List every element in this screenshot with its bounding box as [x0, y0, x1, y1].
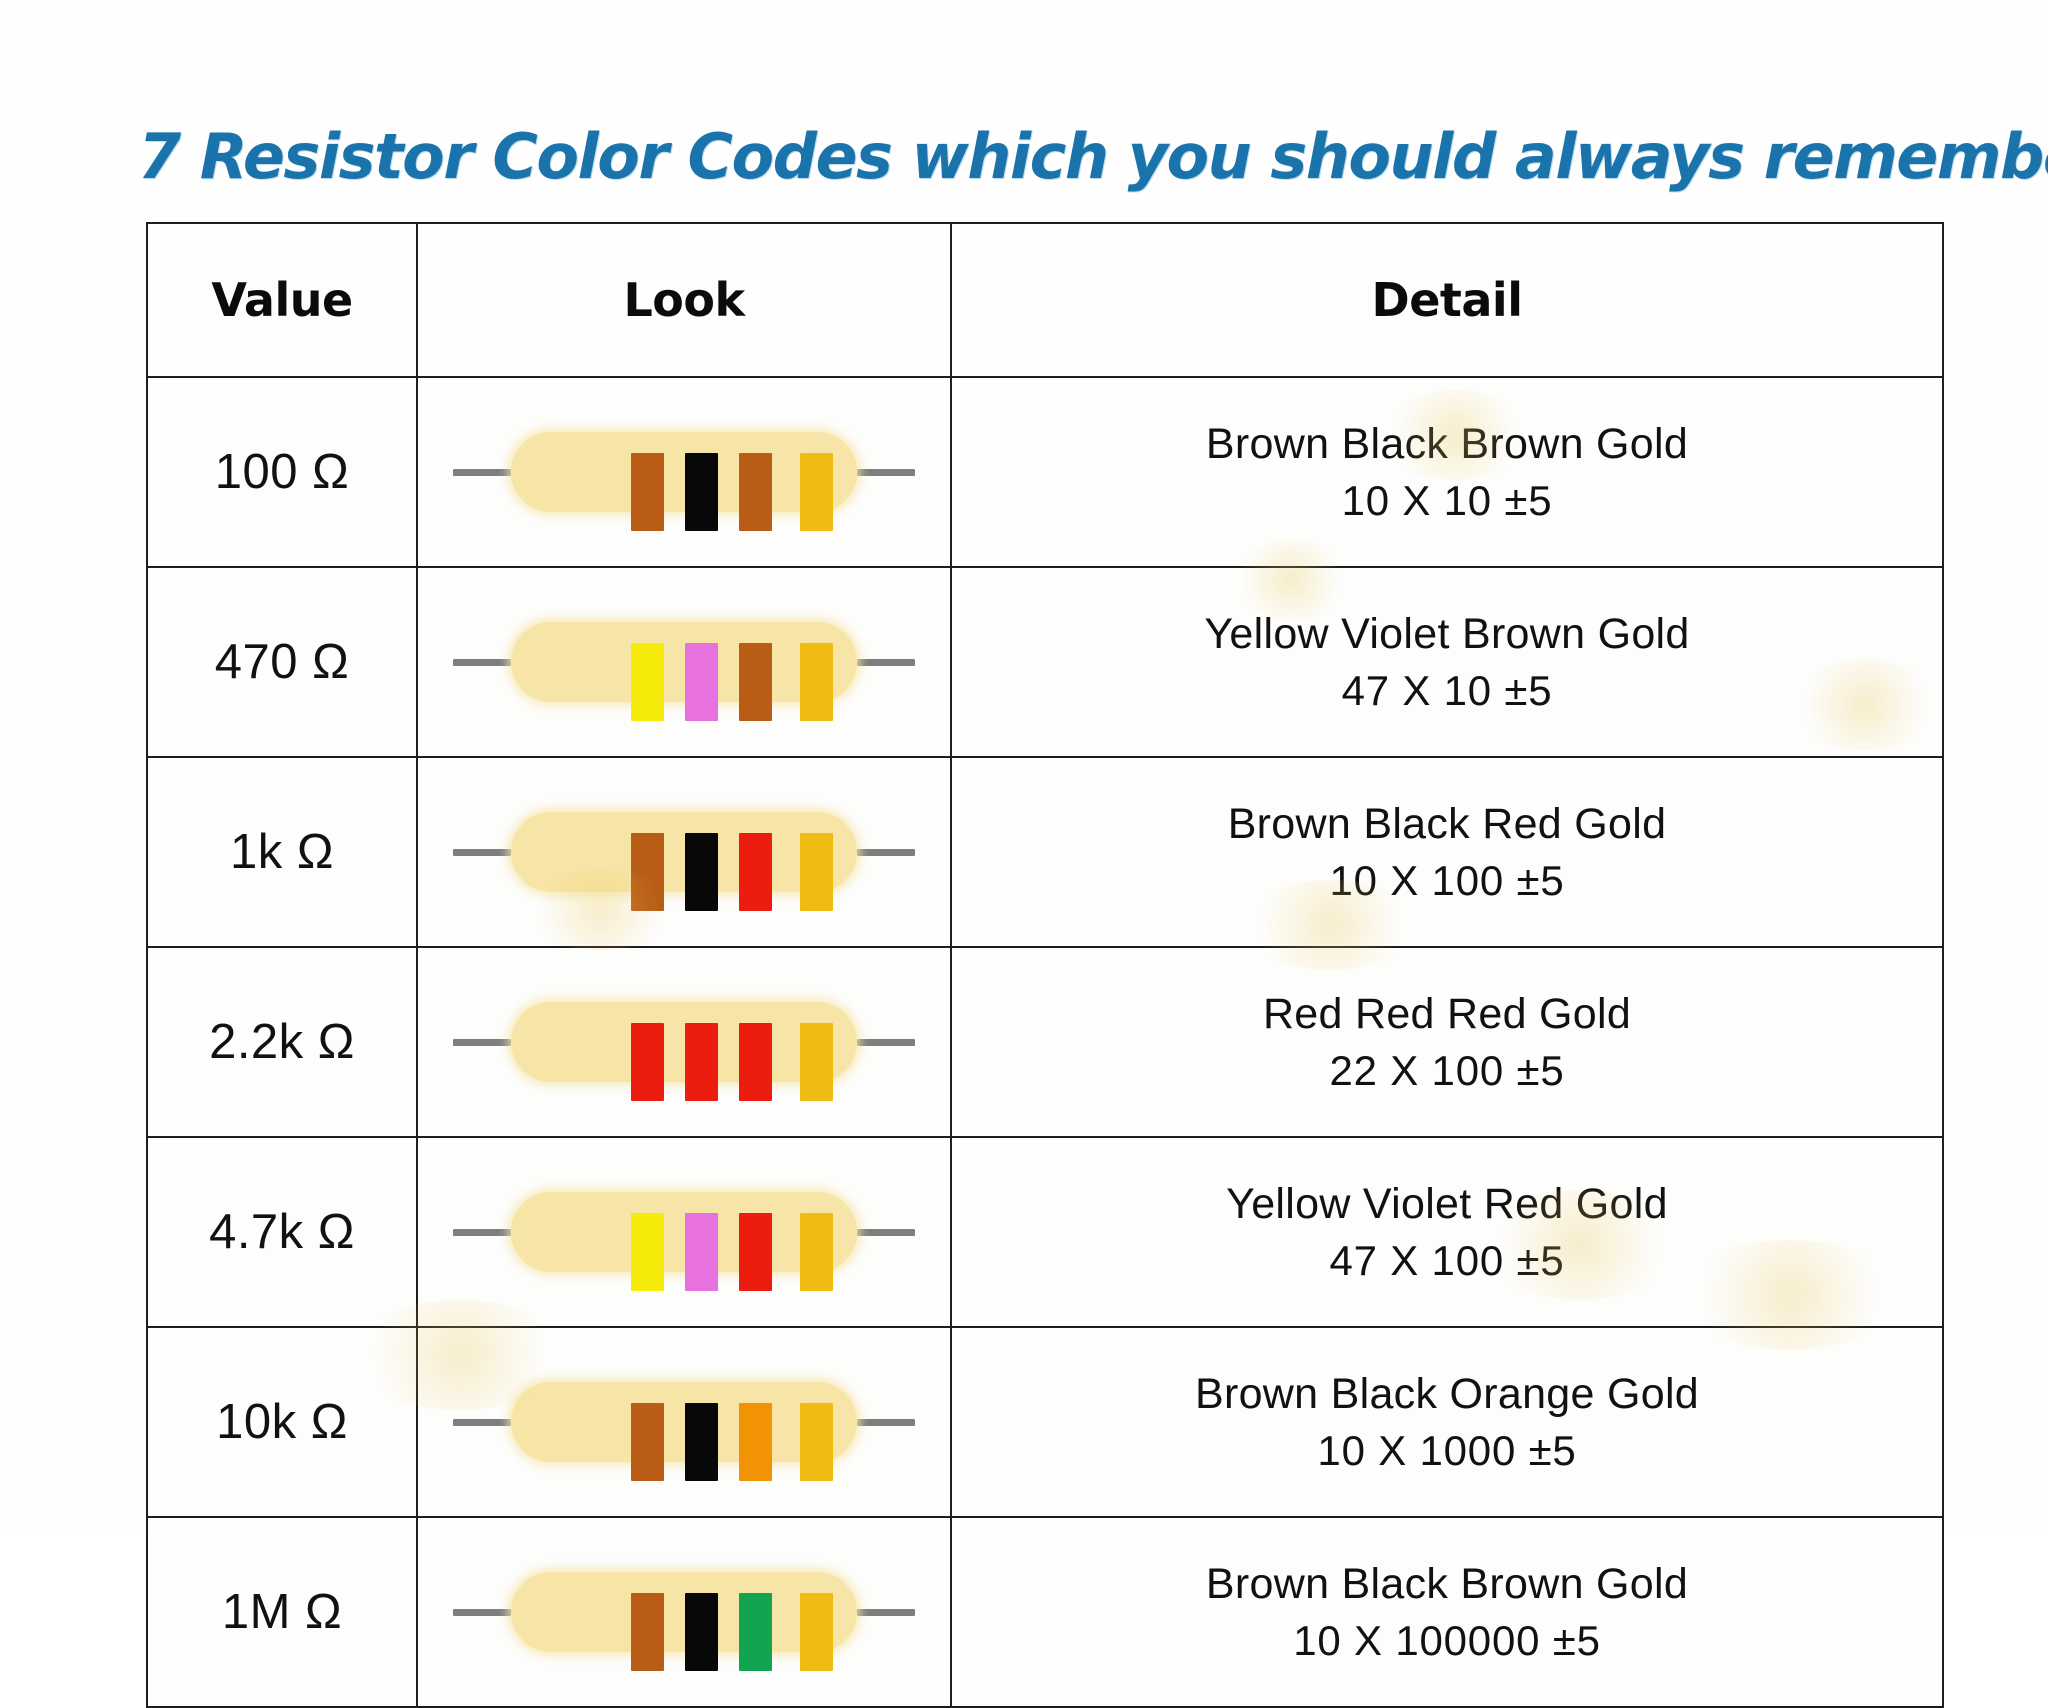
detail-calculation: 10 X 100000 ±5	[952, 1613, 1942, 1668]
resistor-detail-cell: Brown Black Brown Gold10 X 10 ±5	[951, 377, 1943, 567]
resistor-illustration	[449, 1172, 919, 1292]
resistor-band-black	[685, 1403, 718, 1481]
resistor-lead-right	[857, 1419, 915, 1426]
detail-calculation: 22 X 100 ±5	[952, 1043, 1942, 1098]
resistor-band-orange	[739, 1403, 772, 1481]
resistor-illustration	[449, 602, 919, 722]
resistor-look-cell	[417, 1517, 951, 1707]
detail-calculation: 47 X 10 ±5	[952, 663, 1942, 718]
resistor-band-brown	[631, 453, 664, 531]
column-header-look: Look	[417, 223, 951, 377]
resistor-band-red	[685, 1023, 718, 1101]
resistor-lead-right	[857, 849, 915, 856]
page-title: 7 Resistor Color Codes which you should …	[138, 120, 1938, 193]
table-row: 4.7k ΩYellow Violet Red Gold47 X 100 ±5	[147, 1137, 1943, 1327]
resistor-band-gold	[800, 1023, 833, 1101]
resistor-lead-left	[453, 659, 511, 666]
resistor-lead-right	[857, 1229, 915, 1236]
resistor-lead-right	[857, 1609, 915, 1616]
resistor-body	[511, 812, 857, 892]
table-row: 1k ΩBrown Black Red Gold10 X 100 ±5	[147, 757, 1943, 947]
resistance-value-cell: 100 Ω	[147, 377, 417, 567]
detail-color-sequence: Red Red Red Gold	[952, 986, 1942, 1043]
resistor-band-brown	[631, 1403, 664, 1481]
resistor-look-cell	[417, 1327, 951, 1517]
resistor-look-cell	[417, 757, 951, 947]
resistance-value-cell: 1M Ω	[147, 1517, 417, 1707]
resistor-band-gold	[800, 1213, 833, 1291]
resistor-body	[511, 1382, 857, 1462]
resistor-detail-cell: Brown Black Red Gold10 X 100 ±5	[951, 757, 1943, 947]
resistance-value-cell: 10k Ω	[147, 1327, 417, 1517]
table-row: 10k ΩBrown Black Orange Gold10 X 1000 ±5	[147, 1327, 1943, 1517]
resistor-lead-left	[453, 849, 511, 856]
resistor-lead-right	[857, 1039, 915, 1046]
resistor-band-red	[739, 1213, 772, 1291]
resistor-detail-cell: Red Red Red Gold22 X 100 ±5	[951, 947, 1943, 1137]
resistor-band-brown	[631, 833, 664, 911]
resistor-color-code-chart: 7 Resistor Color Codes which you should …	[0, 0, 2048, 1536]
detail-color-sequence: Brown Black Brown Gold	[952, 1556, 1942, 1613]
resistor-body	[511, 1572, 857, 1652]
resistor-body	[511, 1002, 857, 1082]
detail-calculation: 10 X 10 ±5	[952, 473, 1942, 528]
resistor-body	[511, 1192, 857, 1272]
detail-color-sequence: Yellow Violet Red Gold	[952, 1176, 1942, 1233]
resistance-value-cell: 470 Ω	[147, 567, 417, 757]
detail-color-sequence: Brown Black Orange Gold	[952, 1366, 1942, 1423]
column-header-detail: Detail	[951, 223, 1943, 377]
resistor-table: Value Look Detail 100 ΩBrown Black Brown…	[146, 222, 1944, 1708]
detail-calculation: 10 X 1000 ±5	[952, 1423, 1942, 1478]
table-body: 100 ΩBrown Black Brown Gold10 X 10 ±5470…	[147, 377, 1943, 1707]
resistor-band-brown	[739, 643, 772, 721]
resistor-lead-right	[857, 469, 915, 476]
resistor-band-brown	[739, 453, 772, 531]
resistor-illustration	[449, 412, 919, 532]
resistor-lead-right	[857, 659, 915, 666]
resistor-band-black	[685, 453, 718, 531]
resistor-detail-cell: Yellow Violet Brown Gold47 X 10 ±5	[951, 567, 1943, 757]
resistor-body	[511, 432, 857, 512]
resistor-band-brown	[631, 1593, 664, 1671]
resistor-band-yellow	[631, 643, 664, 721]
resistor-look-cell	[417, 567, 951, 757]
resistor-band-red	[631, 1023, 664, 1101]
resistor-lead-left	[453, 1609, 511, 1616]
resistor-illustration	[449, 1362, 919, 1482]
resistor-detail-cell: Brown Black Brown Gold10 X 100000 ±5	[951, 1517, 1943, 1707]
resistance-value-cell: 1k Ω	[147, 757, 417, 947]
resistor-illustration	[449, 792, 919, 912]
table-row: 1M ΩBrown Black Brown Gold10 X 100000 ±5	[147, 1517, 1943, 1707]
resistor-illustration	[449, 982, 919, 1102]
detail-calculation: 10 X 100 ±5	[952, 853, 1942, 908]
table-row: 100 ΩBrown Black Brown Gold10 X 10 ±5	[147, 377, 1943, 567]
resistor-band-black	[685, 1593, 718, 1671]
detail-calculation: 47 X 100 ±5	[952, 1233, 1942, 1288]
resistor-band-gold	[800, 453, 833, 531]
resistor-band-red	[739, 833, 772, 911]
resistor-lead-left	[453, 1039, 511, 1046]
resistor-detail-cell: Yellow Violet Red Gold47 X 100 ±5	[951, 1137, 1943, 1327]
resistor-lead-left	[453, 1229, 511, 1236]
table-row: 470 ΩYellow Violet Brown Gold47 X 10 ±5	[147, 567, 1943, 757]
resistor-illustration	[449, 1552, 919, 1672]
resistance-value-cell: 2.2k Ω	[147, 947, 417, 1137]
resistor-band-gold	[800, 1593, 833, 1671]
table-header-row: Value Look Detail	[147, 223, 1943, 377]
resistor-lead-left	[453, 1419, 511, 1426]
resistor-band-gold	[800, 833, 833, 911]
resistor-band-gold	[800, 1403, 833, 1481]
table-row: 2.2k ΩRed Red Red Gold22 X 100 ±5	[147, 947, 1943, 1137]
resistor-detail-cell: Brown Black Orange Gold10 X 1000 ±5	[951, 1327, 1943, 1517]
resistor-band-violet	[685, 1213, 718, 1291]
resistor-band-gold	[800, 643, 833, 721]
detail-color-sequence: Brown Black Red Gold	[952, 796, 1942, 853]
resistor-band-red	[739, 1023, 772, 1101]
resistor-look-cell	[417, 377, 951, 567]
resistor-band-black	[685, 833, 718, 911]
table-header: Value Look Detail	[147, 223, 1943, 377]
detail-color-sequence: Yellow Violet Brown Gold	[952, 606, 1942, 663]
column-header-value: Value	[147, 223, 417, 377]
resistor-band-yellow	[631, 1213, 664, 1291]
resistor-body	[511, 622, 857, 702]
detail-color-sequence: Brown Black Brown Gold	[952, 416, 1942, 473]
resistor-look-cell	[417, 1137, 951, 1327]
resistor-lead-left	[453, 469, 511, 476]
resistor-band-violet	[685, 643, 718, 721]
resistor-look-cell	[417, 947, 951, 1137]
resistor-band-green	[739, 1593, 772, 1671]
resistance-value-cell: 4.7k Ω	[147, 1137, 417, 1327]
